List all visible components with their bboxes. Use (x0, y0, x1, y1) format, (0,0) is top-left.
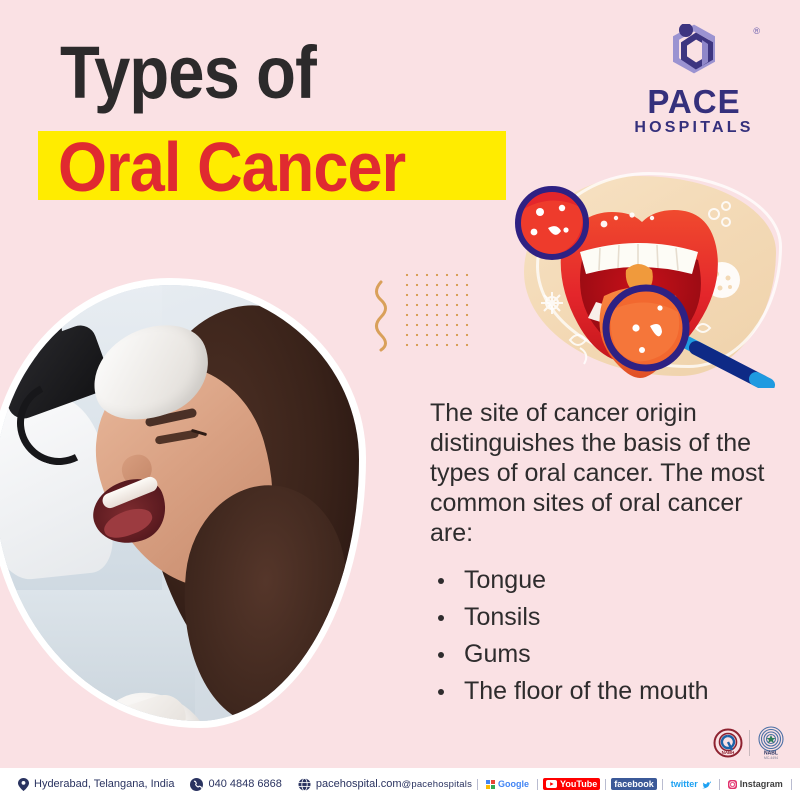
nabl-seal-icon: NABL MC-4494 (756, 726, 786, 760)
social-divider (791, 779, 792, 790)
footer-website-text: pacehospital.com (316, 778, 402, 790)
content-block: The site of cancer origin distinguishes … (430, 398, 780, 712)
social-instagram-label: Instagram (740, 779, 783, 789)
list-item: The floor of the mouth (430, 675, 780, 708)
svg-text:NABH: NABH (722, 750, 735, 755)
social-divider (537, 779, 538, 790)
magnifying-glass-icon (518, 189, 586, 257)
doctor-examining-patient-mouth-photo (0, 278, 366, 728)
wavy-line-decoration (370, 280, 392, 352)
dot-grid-decoration (402, 270, 474, 350)
logo-name: PACE (614, 86, 774, 118)
social-youtube[interactable]: YouTube (543, 778, 600, 790)
footer-website[interactable]: pacehospital.com (298, 778, 402, 791)
infographic-canvas: Types of Oral Cancer ® PACE HOSPITALS (0, 0, 800, 800)
registered-mark: ® (753, 26, 760, 36)
accreditation-badges: NABH NABL MC-4494 (713, 726, 786, 760)
open-mouth-with-lesions-illustration (500, 168, 800, 388)
social-youtube-label: YouTube (560, 779, 597, 789)
hexagon-person-icon: ® (614, 24, 774, 86)
social-google-label: Google (498, 779, 529, 789)
badge-divider (749, 730, 750, 756)
footer-phone[interactable]: 040 4848 6868 (190, 778, 281, 791)
page-title-line2: Oral Cancer (58, 133, 405, 202)
brand-logo[interactable]: ® PACE HOSPITALS (614, 24, 774, 137)
instagram-icon (728, 780, 737, 789)
footer-location: Hyderabad, Telangana, India (18, 778, 174, 791)
social-facebook[interactable]: facebook (611, 778, 657, 790)
list-item: Tongue (430, 564, 780, 597)
social-instagram[interactable]: Instagram (725, 778, 786, 790)
list-item: Gums (430, 638, 780, 671)
social-divider (719, 779, 720, 790)
intro-paragraph: The site of cancer origin distinguishes … (430, 398, 780, 548)
footer-phone-text: 040 4848 6868 (208, 778, 281, 790)
svg-text:MC-4494: MC-4494 (764, 756, 778, 760)
footer-social-row: @pacehospitals Google YouTube facebook (402, 778, 800, 790)
social-facebook-label: facebook (614, 779, 654, 789)
social-handle: @pacehospitals (402, 779, 473, 790)
phone-icon (190, 778, 203, 791)
social-divider (662, 779, 663, 790)
footer-location-text: Hyderabad, Telangana, India (34, 778, 174, 790)
footer-bar: Hyderabad, Telangana, India 040 4848 686… (0, 768, 800, 800)
globe-icon (298, 778, 311, 791)
social-divider (605, 779, 606, 790)
decoration-group (360, 262, 470, 362)
google-icon (486, 780, 495, 789)
social-twitter[interactable]: twitter (668, 778, 714, 790)
social-google[interactable]: Google (483, 778, 532, 790)
list-item: Tonsils (430, 601, 780, 634)
social-divider (477, 779, 478, 790)
twitter-icon (701, 780, 711, 789)
page-title-line1: Types of (60, 36, 316, 110)
logo-subtitle: HOSPITALS (614, 119, 774, 137)
nabh-seal-icon: NABH (713, 728, 743, 758)
social-twitter-label: twitter (671, 779, 698, 789)
youtube-icon (546, 780, 557, 788)
location-pin-icon (18, 778, 29, 791)
common-sites-list: Tongue Tonsils Gums The floor of the mou… (430, 564, 780, 708)
